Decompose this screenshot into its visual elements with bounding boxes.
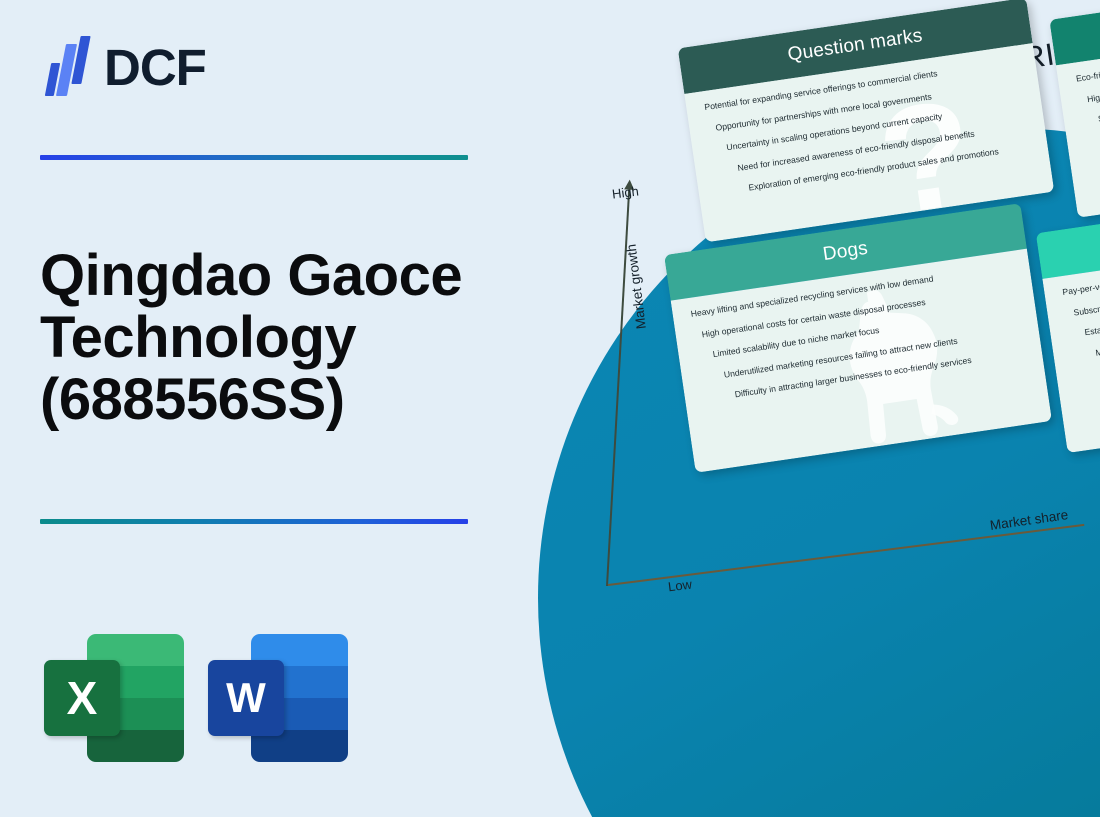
brand-name: DCF (104, 42, 206, 93)
excel-document-icon[interactable]: X (44, 634, 184, 762)
divider-bottom (40, 519, 468, 524)
divider-top (40, 155, 468, 160)
dcf-bars-logo-icon (46, 36, 92, 98)
word-document-icon[interactable]: W (208, 634, 348, 762)
axis-label-high: High (611, 183, 639, 201)
document-icons-row: X W (44, 634, 348, 762)
x-axis-line (608, 524, 1084, 586)
page-title: Qingdao Gaoce Technology (688556SS) (40, 245, 510, 431)
left-content-panel: DCF Qingdao Gaoce Technology (688556SS) … (0, 0, 540, 817)
brand-logo[interactable]: DCF (46, 36, 206, 98)
bcg-matrix-graphic: BCG MATRIX High Low Market growth Market… (470, 0, 1100, 817)
excel-letter-badge: X (44, 660, 120, 736)
axis-label-low: Low (667, 577, 693, 595)
slide-canvas: BCG MATRIX High Low Market growth Market… (0, 0, 1100, 817)
axis-label-market-growth: Market growth (624, 243, 649, 330)
word-letter-badge: W (208, 660, 284, 736)
